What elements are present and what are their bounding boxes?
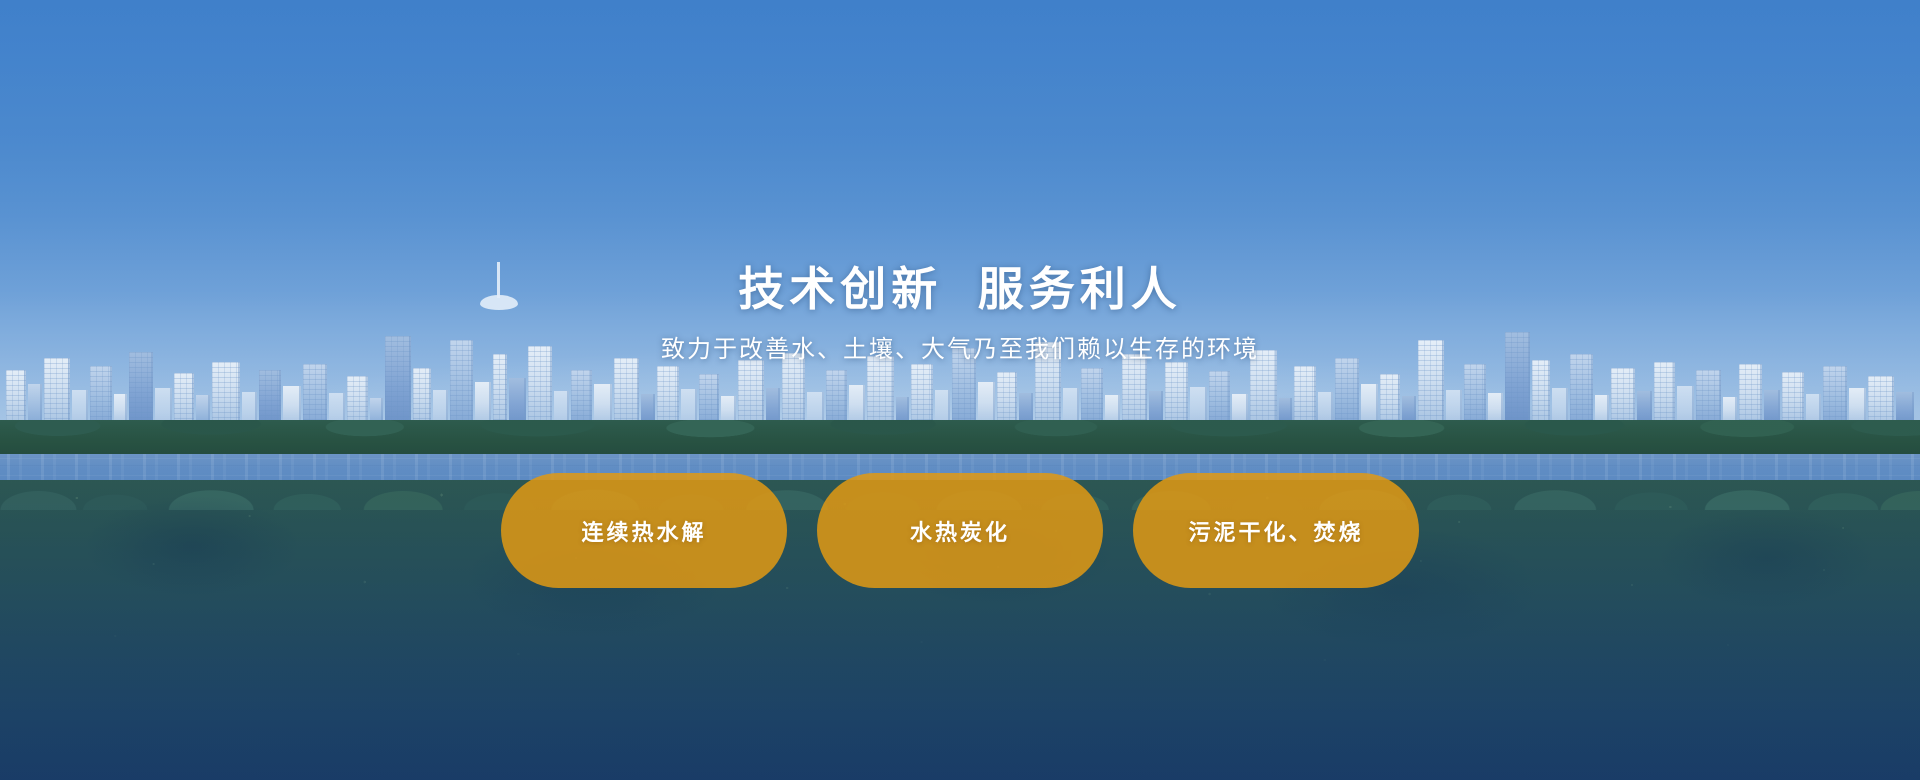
service-button-sludge-drying-incineration[interactable]: 污泥干化、焚烧 xyxy=(1133,473,1419,588)
service-button-hydrothermal-carbonization[interactable]: 水热炭化 xyxy=(817,473,1103,588)
hero-banner: 技术创新 服务利人 致力于改善水、土壤、大气乃至我们赖以生存的环境 连续热水解 … xyxy=(0,0,1920,780)
service-button-continuous-thermal-hydrolysis[interactable]: 连续热水解 xyxy=(501,473,787,588)
hero-copy-block: 技术创新 服务利人 致力于改善水、土壤、大气乃至我们赖以生存的环境 xyxy=(0,262,1920,367)
page-title: 技术创新 服务利人 xyxy=(0,262,1920,316)
hero-subtitle: 致力于改善水、土壤、大气乃至我们赖以生存的环境 xyxy=(0,334,1920,366)
hero-action-buttons: 连续热水解 水热炭化 污泥干化、焚烧 xyxy=(0,473,1920,588)
